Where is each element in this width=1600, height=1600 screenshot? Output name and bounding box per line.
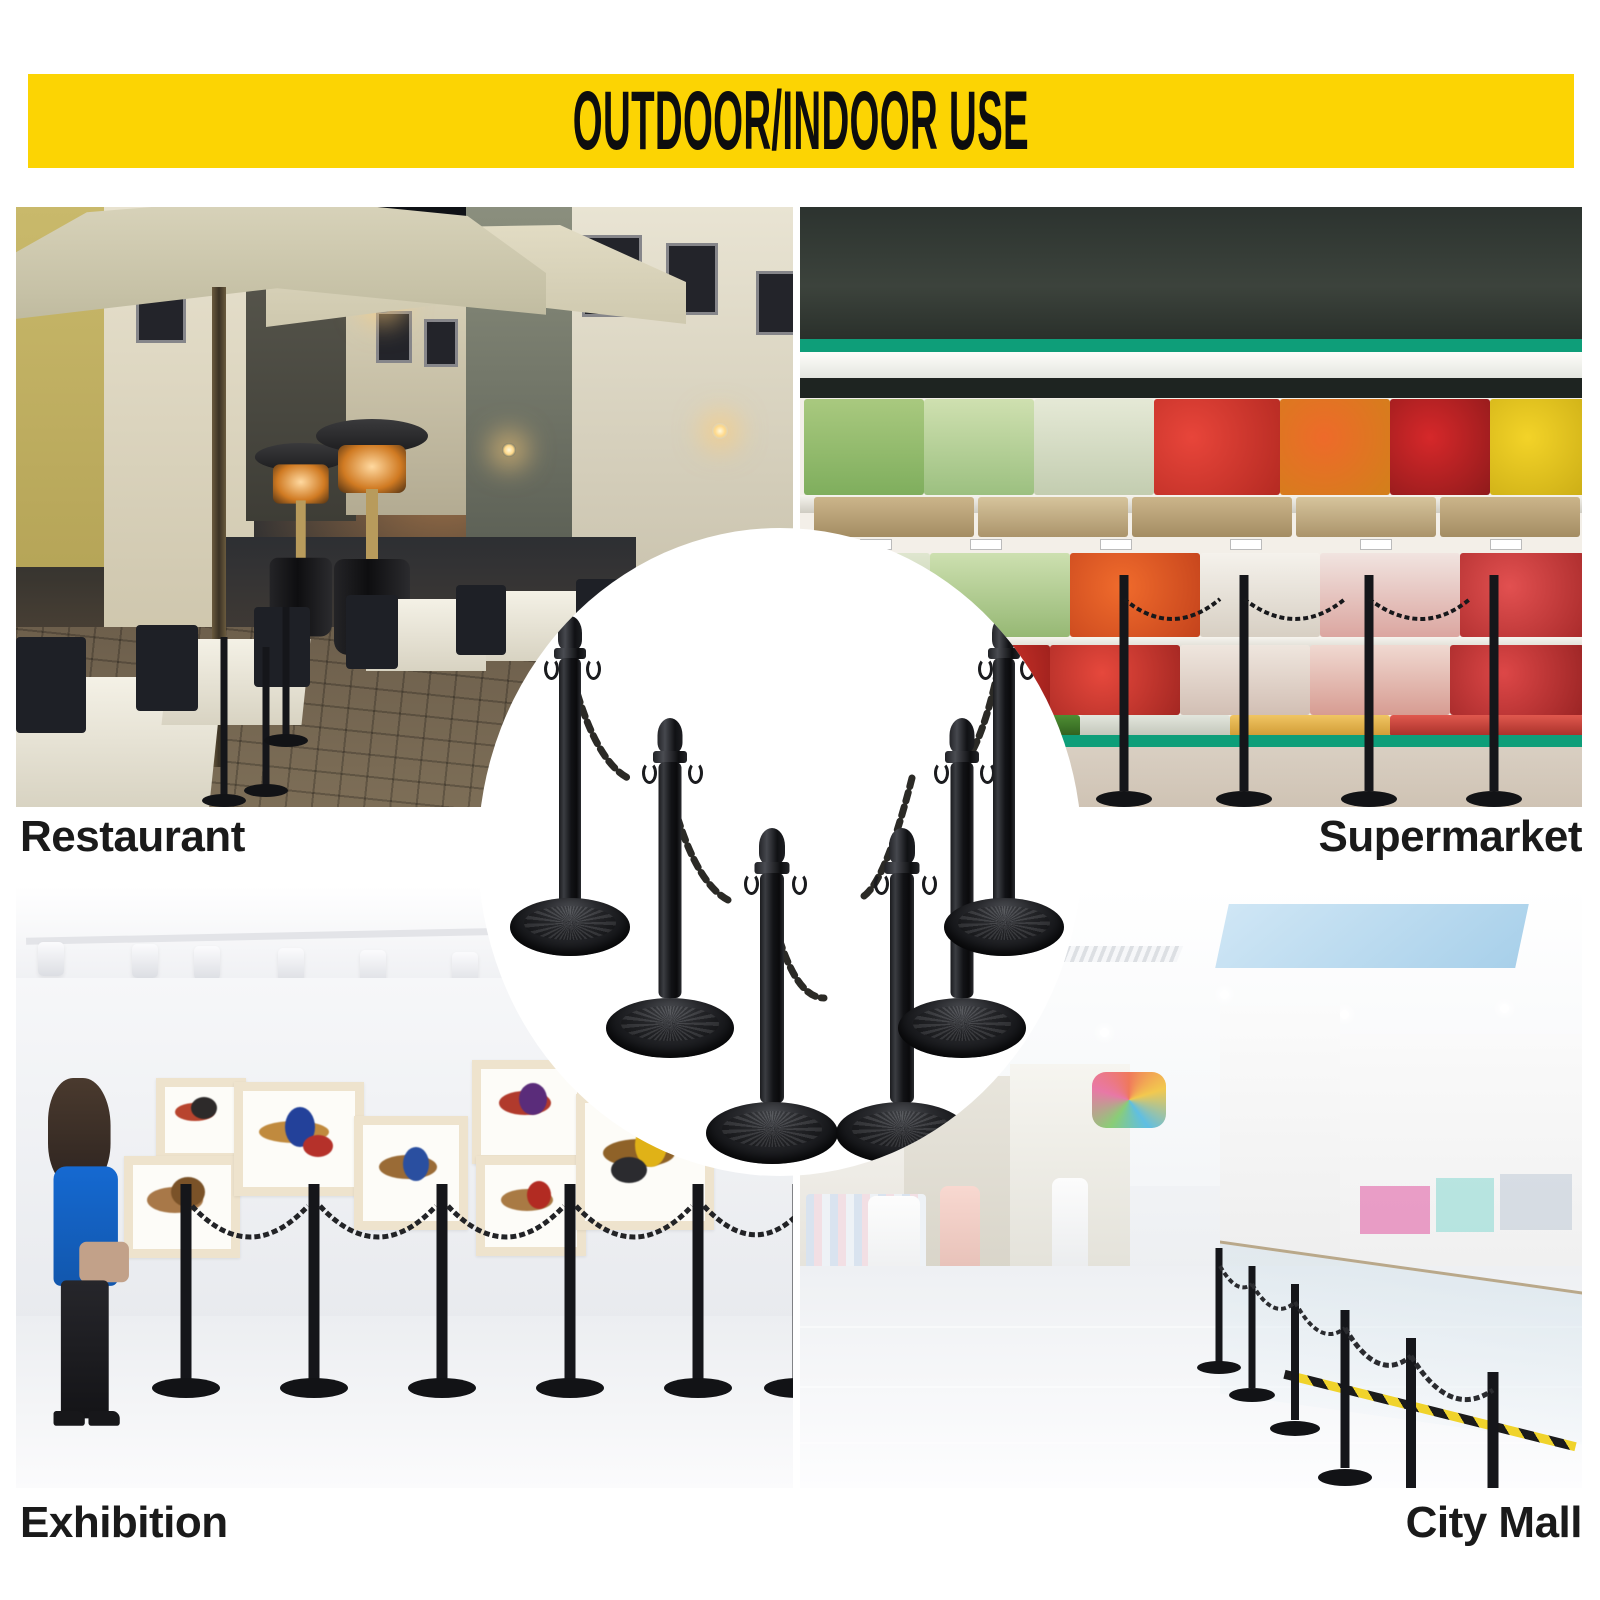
scene-stanchion xyxy=(540,1184,600,1398)
scene-stanchion xyxy=(202,637,246,807)
product-stanchion-3 xyxy=(706,828,838,1164)
header-title: OUTDOOR/INDOOR USE xyxy=(573,73,1029,168)
scene-stanchion xyxy=(768,1184,793,1398)
panel-label-citymall: City Mall xyxy=(1406,1498,1582,1548)
panel-label-restaurant: Restaurant xyxy=(20,812,245,862)
scene-stanchion xyxy=(668,1184,728,1398)
scene-stanchion xyxy=(156,1184,216,1398)
scene-stanchion xyxy=(1470,575,1518,807)
product-stanchion-6 xyxy=(944,616,1064,956)
scene-stanchion xyxy=(1230,1266,1274,1402)
panel-label-exhibition: Exhibition xyxy=(20,1498,228,1548)
scene-stanchion xyxy=(284,1184,344,1398)
scene-stanchion xyxy=(1345,575,1393,807)
scene-stanchion xyxy=(412,1184,472,1398)
header-banner: OUTDOOR/INDOOR USE xyxy=(28,74,1574,168)
scene-stanchion xyxy=(1220,575,1268,807)
scene-stanchion xyxy=(266,607,306,747)
hero-product-circle xyxy=(478,528,1082,1176)
scene-stanchion xyxy=(1272,1284,1318,1436)
panel-label-supermarket: Supermarket xyxy=(1318,812,1582,862)
scene-stanchion xyxy=(1100,575,1148,807)
scene-stanchion xyxy=(1464,1372,1522,1488)
scene-stanchion xyxy=(1384,1338,1438,1488)
scene-stanchion xyxy=(1320,1310,1370,1486)
